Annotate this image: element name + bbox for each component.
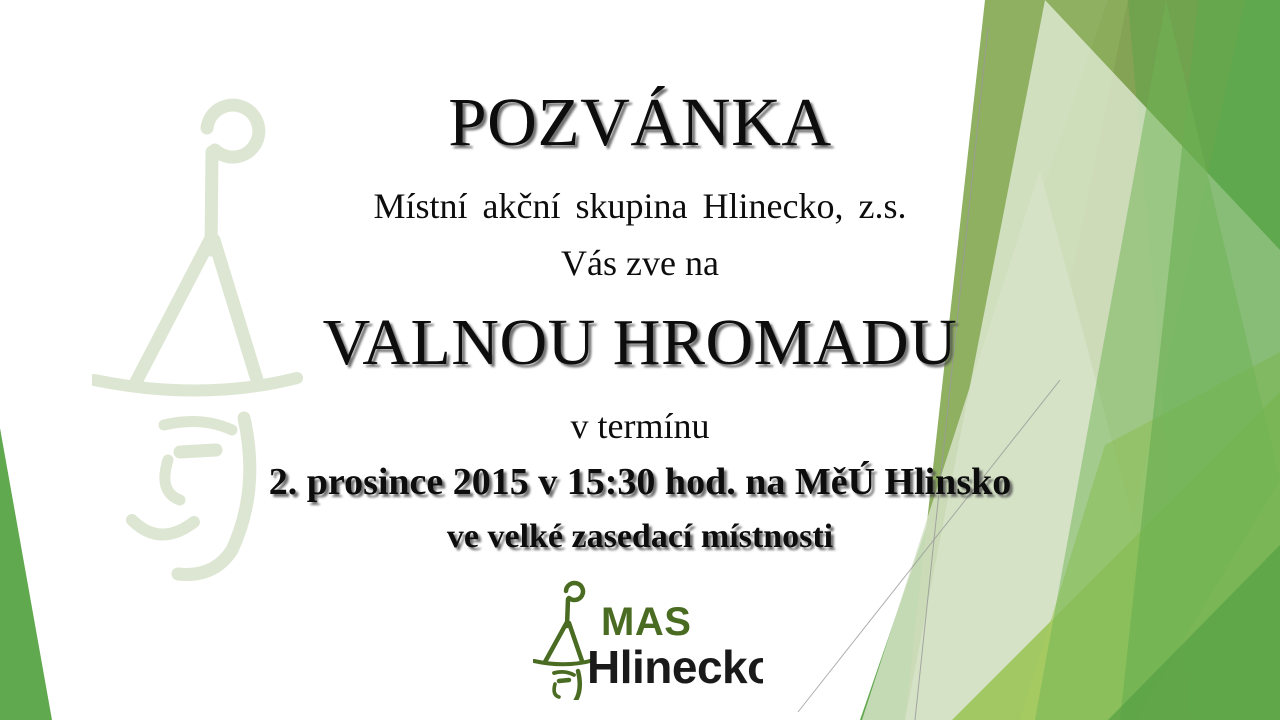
logo-svg: MAS Hlinecko [533,578,763,700]
logo-text-mas: MAS [601,600,691,644]
event-room: ve velké zasedací místnosti [180,520,1100,554]
left-green-wedge [0,428,52,720]
logo-text-hlinecko: Hlinecko [587,641,763,693]
invite-phrase: Vás zve na [180,245,1100,281]
logo-tower-face-icon [534,583,594,700]
event-name: VALNOU HROMADU [180,310,1100,376]
mas-hlinecko-logo: MAS Hlinecko [533,578,763,700]
slide-canvas: POZVÁNKA Místní akční skupina Hlinecko, … [0,0,1280,720]
green-overlap-right [1120,0,1280,720]
date-lead-label: v termínu [180,408,1100,444]
deep-green-bottom [1108,545,1280,720]
event-datetime-place: 2. prosince 2015 v 15:30 hod. na MěÚ Hli… [180,463,1100,501]
page-title: POZVÁNKA [180,88,1100,157]
organization-name: Místní akční skupina Hlinecko, z.s. [180,188,1100,224]
